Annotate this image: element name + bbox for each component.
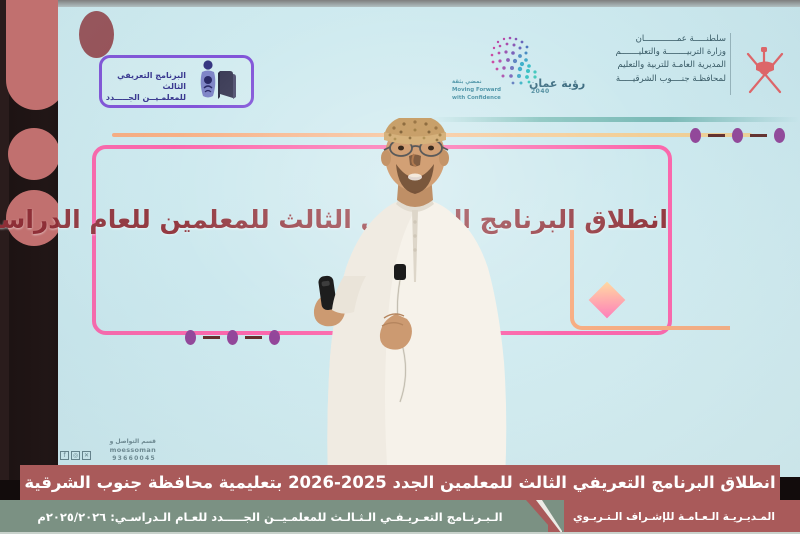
instagram-icon: ◎ bbox=[71, 451, 80, 460]
slide-decor-dot-row-bottom bbox=[185, 330, 280, 345]
footer-banner-right-text: المـديـريـة الـعـامـة للإشـراف الـتـربـو… bbox=[556, 500, 792, 534]
ministry-line-1: سلطنـــــة عمـــــــــــــان bbox=[568, 33, 726, 46]
vision-tagline: نمضي بثقة Moving Forward with Confidence bbox=[452, 79, 520, 102]
slide-decor-orange-frame bbox=[570, 230, 730, 330]
vision-tagline-en-1: Moving Forward bbox=[452, 87, 520, 95]
vision-year: 2040 bbox=[531, 88, 550, 95]
purple-dot-icon bbox=[774, 128, 785, 143]
ministry-identity: سلطنـــــة عمـــــــــــــان وزارة الترب… bbox=[568, 33, 726, 86]
vision-tagline-ar: نمضي بثقة bbox=[452, 79, 520, 87]
wall-decor-pill bbox=[6, 0, 66, 110]
dot-connector bbox=[750, 134, 767, 137]
footer-banner-left-text: الـبـرنـامج التعـريـفـي الـثـالـث للمعلم… bbox=[0, 500, 540, 534]
purple-dot-icon bbox=[227, 330, 238, 345]
program-logo-line-1: البرنامج التعريفي الثالث bbox=[104, 71, 186, 93]
ministry-line-2: وزارة التربيــــــــة والتعليـــــــم bbox=[568, 46, 726, 59]
headline-banner-text: انطلاق البرنامج التعريفي الثالث للمعلمين… bbox=[24, 473, 775, 492]
dot-connector bbox=[708, 134, 725, 137]
watermark-arabic: قسم التواصل و bbox=[72, 438, 156, 446]
photo-canvas: انطلاق البرنامج التعريفي الثالث للمعلمين… bbox=[0, 0, 800, 534]
vision-tagline-en-2: with Confidence bbox=[452, 95, 520, 103]
purple-dot-icon bbox=[732, 128, 743, 143]
footer-banner: المـديـريـة الـعـامـة للإشـراف الـتـربـو… bbox=[0, 500, 800, 534]
x-icon: ✕ bbox=[82, 451, 91, 460]
speaker-photo bbox=[300, 118, 530, 480]
dot-connector bbox=[203, 336, 220, 339]
program-logo-text: البرنامج التعريفي الثالث للمعلمـيــن الج… bbox=[104, 71, 186, 103]
header-divider bbox=[730, 33, 731, 95]
slide-decor-dot-row-top bbox=[690, 128, 785, 143]
dot-connector bbox=[245, 336, 262, 339]
ministry-line-3: المديرية العامـة للتربية والتعليم bbox=[568, 59, 726, 72]
purple-dot-icon bbox=[690, 128, 701, 143]
slide-decor-ellipse bbox=[79, 11, 114, 58]
facebook-icon: f bbox=[60, 451, 69, 460]
purple-dot-icon bbox=[185, 330, 196, 345]
wall-decor-circle-1 bbox=[8, 128, 60, 180]
watermark-social-icons: f ◎ ✕ bbox=[60, 451, 91, 460]
headline-banner: انطلاق البرنامج التعريفي الثالث للمعلمين… bbox=[20, 465, 780, 500]
program-logo-mark-icon bbox=[193, 58, 243, 106]
purple-dot-icon bbox=[269, 330, 280, 345]
program-logo-line-2: للمعلمـيــن الجـــــدد bbox=[104, 93, 186, 104]
ministry-line-4: لمحافظـة جنــــوب الشرقيـــــة bbox=[568, 73, 726, 86]
oman-national-emblem-icon bbox=[740, 42, 790, 104]
